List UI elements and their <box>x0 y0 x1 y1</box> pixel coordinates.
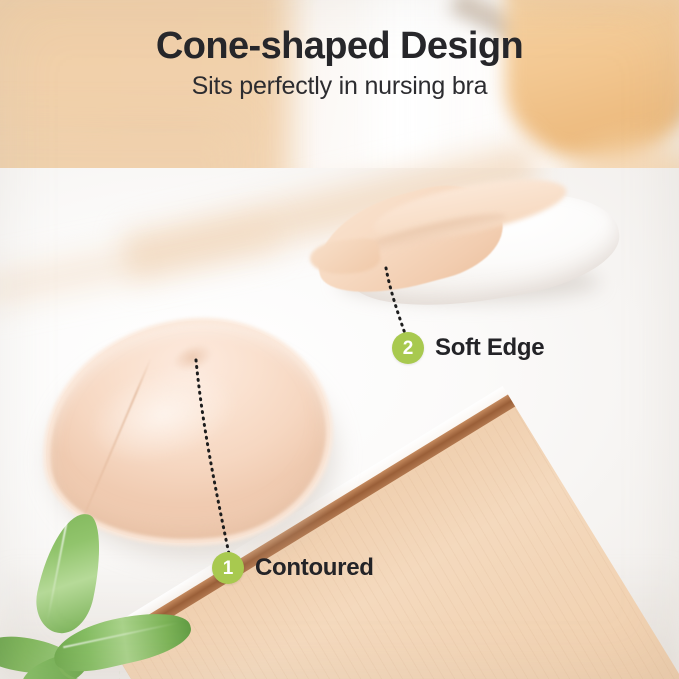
callout-badge-1: 1 <box>212 552 244 584</box>
leader-line-path <box>196 360 229 554</box>
leader-line-contoured <box>180 352 250 562</box>
bamboo-leaves <box>0 506 204 679</box>
nursing-pad-soft-edge <box>314 190 626 310</box>
product-feature-image: Cone-shaped Design Sits perfectly in nur… <box>0 0 679 679</box>
callout-label-contoured: Contoured <box>255 554 374 582</box>
callout-contoured: 1 Contoured <box>212 552 374 584</box>
bamboo-leaf-upright <box>30 508 110 639</box>
callout-badge-2: 2 <box>392 332 424 364</box>
callout-label-soft-edge: Soft Edge <box>435 334 544 362</box>
leader-line-path <box>386 268 408 342</box>
blurred-wooden-bowl <box>505 0 679 160</box>
callout-soft-edge: 2 Soft Edge <box>392 332 544 364</box>
